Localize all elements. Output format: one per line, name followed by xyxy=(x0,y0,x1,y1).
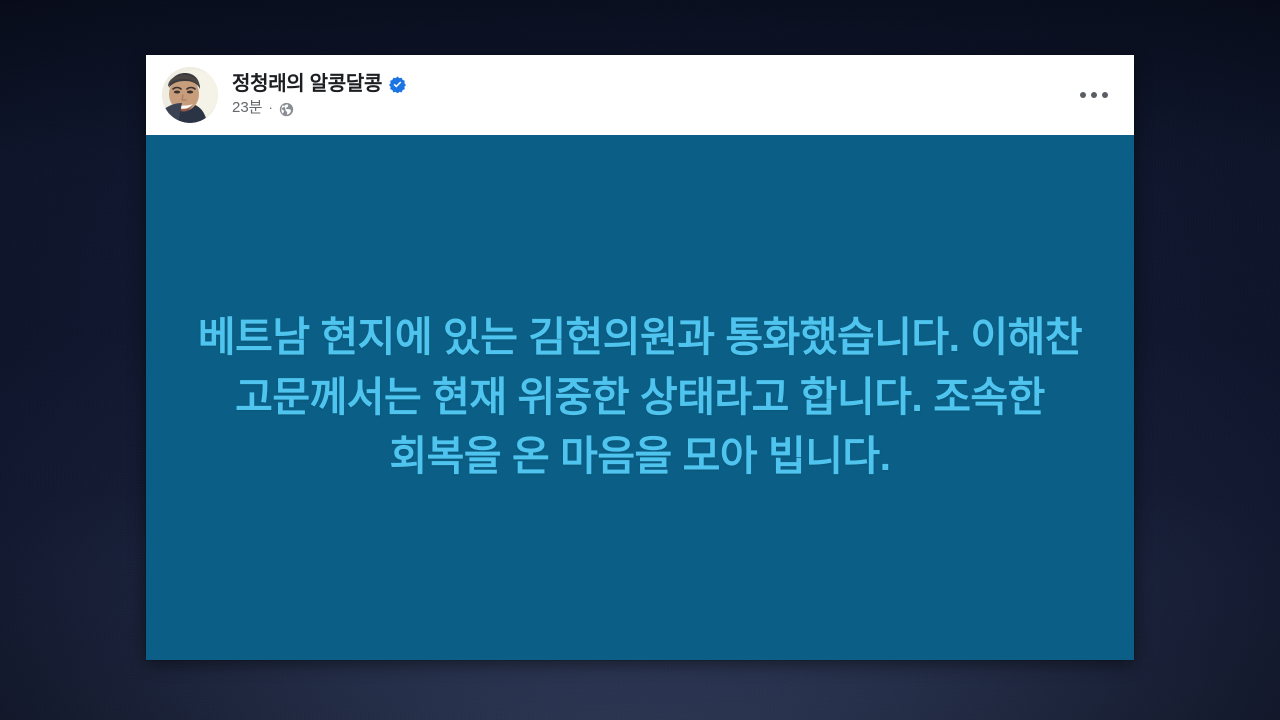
author-row: 정청래의 알콩달콩 xyxy=(232,73,406,96)
post-timestamp[interactable]: 23분 xyxy=(232,99,263,116)
globe-icon[interactable] xyxy=(279,102,294,117)
author-name[interactable]: 정청래의 알콩달콩 xyxy=(232,73,382,96)
meta-separator: · xyxy=(268,101,274,116)
more-dot-2 xyxy=(1091,92,1097,98)
post-meta-row: 23분 · xyxy=(232,99,406,116)
post-text: 베트남 현지에 있는 김현의원과 통화했습니다. 이해찬 고문께서는 현재 위중… xyxy=(186,308,1094,486)
more-dot-3 xyxy=(1102,92,1108,98)
author-block: 정청래의 알콩달콩 23분 · xyxy=(232,73,406,116)
screenshot-stage: 정청래의 알콩달콩 23분 · xyxy=(0,0,1280,720)
post-body: 베트남 현지에 있는 김현의원과 통화했습니다. 이해찬 고문께서는 현재 위중… xyxy=(146,135,1134,660)
avatar[interactable] xyxy=(162,67,218,123)
more-options-button[interactable] xyxy=(1072,84,1116,106)
verified-badge-icon xyxy=(389,76,406,93)
post-header: 정청래의 알콩달콩 23분 · xyxy=(146,55,1134,135)
facebook-post-card: 정청래의 알콩달콩 23분 · xyxy=(146,55,1134,660)
more-dot-1 xyxy=(1080,92,1086,98)
